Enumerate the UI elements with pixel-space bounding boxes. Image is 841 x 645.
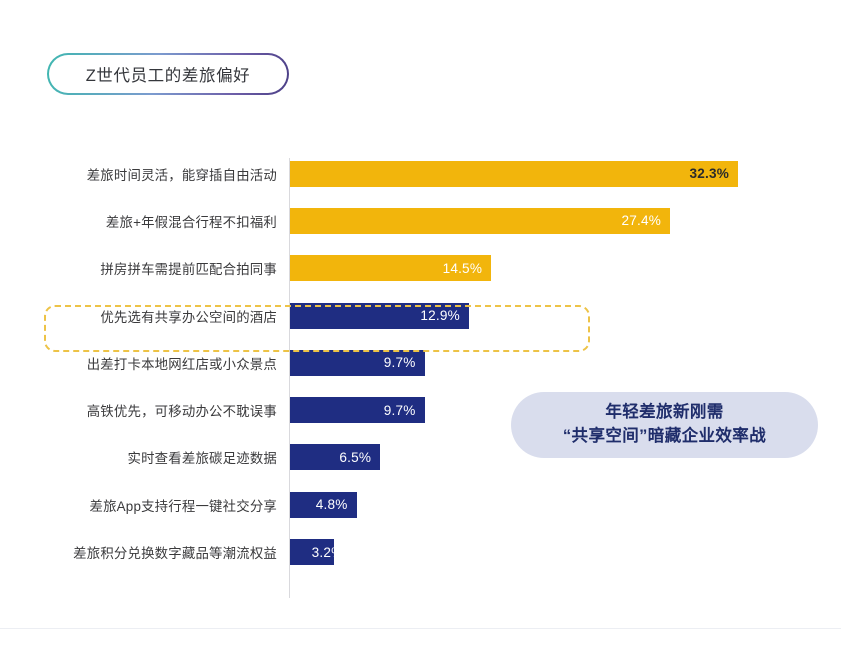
- bar-category-label: 差旅积分兑换数字藏品等潮流权益: [0, 542, 277, 562]
- bar-category-label: 出差打卡本地网红店或小众景点: [0, 353, 277, 373]
- bar-track: 3.2%: [290, 528, 334, 575]
- slide-canvas: Z世代员工的差旅偏好 差旅时间灵活，能穿插自由活动32.3%差旅+年假混合行程不…: [0, 0, 841, 645]
- bar-track: 9.7%: [290, 339, 425, 386]
- bar-category-label: 高铁优先，可移动办公不耽误事: [0, 400, 277, 420]
- bar-track: 4.8%: [290, 481, 357, 528]
- bar-row: 差旅积分兑换数字藏品等潮流权益3.2%: [0, 528, 841, 575]
- bar-value-label: 4.8%: [316, 497, 357, 512]
- bar-track: 9.7%: [290, 386, 425, 433]
- bar-chart: 差旅时间灵活，能穿插自由活动32.3%差旅+年假混合行程不扣福利27.4%拼房拼…: [0, 150, 841, 605]
- bar-category-label: 差旅时间灵活，能穿插自由活动: [0, 164, 277, 184]
- bar: 9.7%: [290, 397, 425, 423]
- insight-callout-line-1: 年轻差旅新刚需: [605, 401, 723, 425]
- bar-value-label: 32.3%: [689, 166, 738, 181]
- bar: 32.3%: [290, 161, 738, 187]
- bar: 4.8%: [290, 492, 357, 518]
- bar: 6.5%: [290, 444, 380, 470]
- bar-track: 14.5%: [290, 245, 491, 292]
- bar: 12.9%: [290, 303, 469, 329]
- bar-category-label: 差旅+年假混合行程不扣福利: [0, 211, 277, 231]
- bar-value-label: 14.5%: [443, 261, 492, 276]
- bar: 14.5%: [290, 255, 491, 281]
- bar-category-label: 差旅App支持行程一键社交分享: [0, 495, 277, 515]
- bar-value-label: 9.7%: [384, 403, 425, 418]
- bar-row: 差旅时间灵活，能穿插自由活动32.3%: [0, 150, 841, 197]
- bar-value-label: 9.7%: [384, 355, 425, 370]
- bar-track: 12.9%: [290, 292, 469, 339]
- bar: 27.4%: [290, 208, 670, 234]
- bar: 9.7%: [290, 350, 425, 376]
- bar-row: 优先选有共享办公空间的酒店12.9%: [0, 292, 841, 339]
- chart-title-pill-inner: Z世代员工的差旅偏好: [49, 55, 288, 94]
- bar-rows: 差旅时间灵活，能穿插自由活动32.3%差旅+年假混合行程不扣福利27.4%拼房拼…: [0, 150, 841, 576]
- bar-value-label: 27.4%: [621, 213, 670, 228]
- bar-value-label: 3.2%: [312, 545, 344, 560]
- bar-row: 差旅App支持行程一键社交分享4.8%: [0, 481, 841, 528]
- insight-callout: 年轻差旅新刚需 “共享空间”暗藏企业效率战: [511, 392, 818, 458]
- bar-row: 差旅+年假混合行程不扣福利27.4%: [0, 197, 841, 244]
- bar-value-label: 12.9%: [420, 308, 469, 323]
- bar-track: 27.4%: [290, 197, 670, 244]
- bar-row: 拼房拼车需提前匹配合拍同事14.5%: [0, 245, 841, 292]
- bar-value-label: 6.5%: [339, 450, 380, 465]
- page-title: Z世代员工的差旅偏好: [86, 62, 251, 86]
- insight-callout-line-2: “共享空间”暗藏企业效率战: [563, 425, 766, 449]
- footer-divider: [0, 628, 841, 629]
- bar-track: 32.3%: [290, 150, 738, 197]
- chart-title-pill: Z世代员工的差旅偏好: [47, 53, 289, 95]
- bar: 3.2%: [290, 539, 334, 565]
- bar-row: 出差打卡本地网红店或小众景点9.7%: [0, 339, 841, 386]
- bar-category-label: 拼房拼车需提前匹配合拍同事: [0, 258, 277, 278]
- bar-track: 6.5%: [290, 434, 380, 481]
- bar-category-label: 实时查看差旅碳足迹数据: [0, 447, 277, 467]
- bar-category-label: 优先选有共享办公空间的酒店: [0, 306, 277, 326]
